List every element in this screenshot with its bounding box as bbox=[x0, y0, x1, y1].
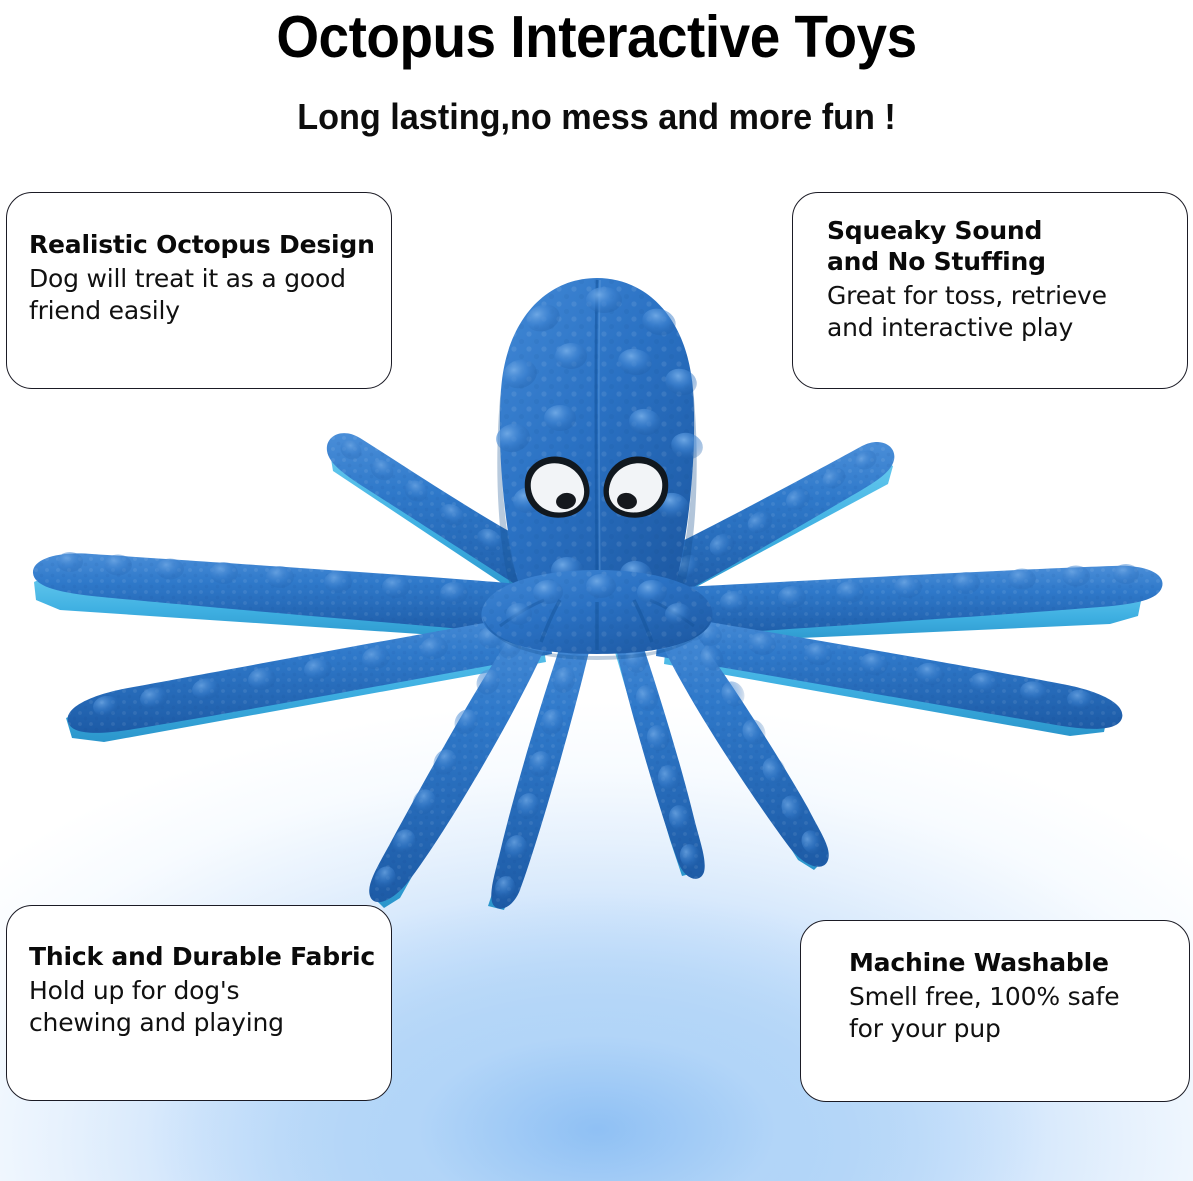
feature-box-squeaky-sound-no-stuffing[interactable]: Squeaky Sound and No Stuffing Great for … bbox=[792, 192, 1188, 389]
feature-box-content: Thick and Durable Fabric Hold up for dog… bbox=[7, 906, 391, 1039]
feature-heading: Machine Washable bbox=[849, 947, 1189, 978]
feature-box-thick-durable-fabric[interactable]: Thick and Durable Fabric Hold up for dog… bbox=[6, 905, 392, 1101]
feature-body: Dog will treat it as a good friend easil… bbox=[29, 263, 391, 327]
feature-heading: Realistic Octopus Design bbox=[29, 229, 391, 260]
feature-body: Smell free, 100% safe for your pup bbox=[849, 981, 1189, 1045]
feature-box-machine-washable[interactable]: Machine Washable Smell free, 100% safe f… bbox=[800, 920, 1190, 1102]
octopus-head bbox=[493, 278, 705, 620]
feature-box-content: Squeaky Sound and No Stuffing Great for … bbox=[793, 193, 1187, 344]
feature-body: Great for toss, retrieve and interactive… bbox=[827, 280, 1187, 344]
feature-box-content: Realistic Octopus Design Dog will treat … bbox=[7, 193, 391, 327]
feature-heading: Squeaky Sound and No Stuffing bbox=[827, 215, 1187, 277]
feature-box-content: Machine Washable Smell free, 100% safe f… bbox=[801, 921, 1189, 1045]
octopus-body-center bbox=[481, 570, 712, 660]
infographic-page: Octopus Interactive Toys Long lasting,no… bbox=[0, 0, 1193, 1181]
page-title: Octopus Interactive Toys bbox=[42, 1, 1151, 73]
feature-heading: Thick and Durable Fabric bbox=[29, 941, 391, 972]
feature-box-realistic-octopus-design[interactable]: Realistic Octopus Design Dog will treat … bbox=[6, 192, 392, 389]
feature-body: Hold up for dog's chewing and playing bbox=[29, 975, 391, 1039]
page-subtitle: Long lasting,no mess and more fun ! bbox=[30, 95, 1163, 139]
